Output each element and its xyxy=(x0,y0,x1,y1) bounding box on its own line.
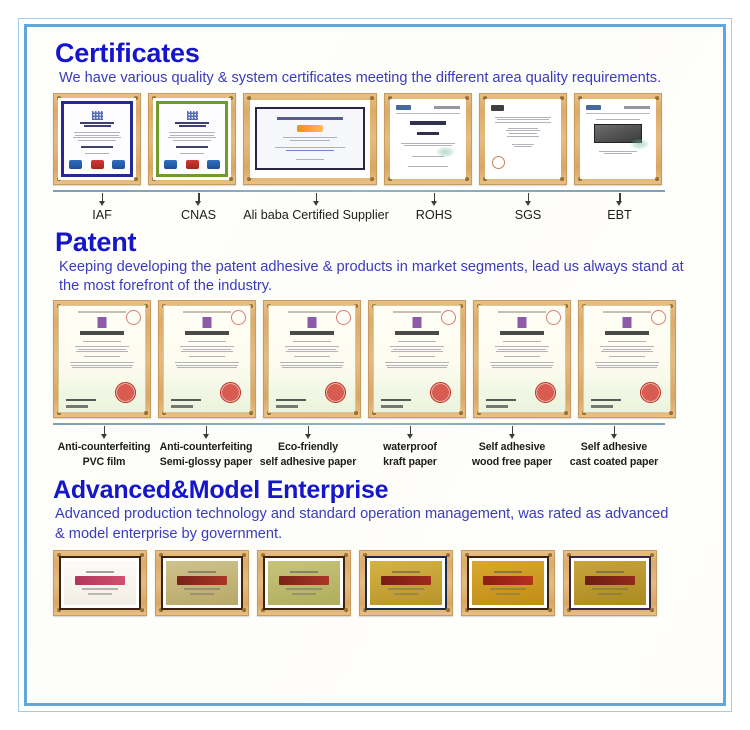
certificate-thumb-rohs[interactable] xyxy=(384,93,472,185)
patent-red-seal-icon xyxy=(640,382,661,403)
certificate-thumb-sgs[interactable] xyxy=(479,93,567,185)
advanced-model-enterprise-heading: Advanced&Model Enterprise xyxy=(53,477,709,503)
award-plaque xyxy=(166,561,238,605)
patent-red-seal-icon xyxy=(535,382,556,403)
patent-caption-line2: wood free paper xyxy=(472,455,552,469)
patent-caption: Eco-friendly self adhesive paper xyxy=(260,440,356,469)
patent-stamp-icon xyxy=(126,310,141,325)
alibaba-logo-icon xyxy=(297,125,323,132)
patent-caption: Self adhesive cast coated paper xyxy=(570,440,658,469)
section-certificates: Certificates We have various quality & s… xyxy=(41,39,709,224)
patent-caption-line1: waterproof xyxy=(383,441,437,453)
patent-thumb[interactable] xyxy=(53,300,151,418)
patent-heading: Patent xyxy=(55,228,709,256)
award-plaque xyxy=(472,561,544,605)
advanced-model-enterprise-description: Advanced production technology and stand… xyxy=(55,505,670,544)
patent-red-seal-icon xyxy=(220,382,241,403)
certificates-captions: IAF CNAS Ali baba Certified Supplier xyxy=(53,192,665,224)
patent-caption-line1: Eco-friendly xyxy=(278,441,338,453)
alibaba-certificate-document xyxy=(255,107,365,169)
patent-office-logo-icon xyxy=(515,317,529,328)
sgs-seal-icon xyxy=(492,156,505,169)
patent-red-seal-icon xyxy=(430,382,451,403)
content-area: Certificates We have various quality & s… xyxy=(27,27,723,703)
award-plaque-thumb[interactable] xyxy=(359,550,453,616)
patent-stamp-icon xyxy=(231,310,246,325)
patent-caption-line2: self adhesive paper xyxy=(260,455,356,469)
patent-red-seal-icon xyxy=(115,382,136,403)
patent-thumb[interactable] xyxy=(263,300,361,418)
patent-description: Keeping developing the patent adhesive &… xyxy=(59,258,684,297)
awards-image-row xyxy=(53,550,709,616)
award-plaque-text xyxy=(177,576,227,585)
certificate-caption: Ali baba Certified Supplier xyxy=(243,207,389,224)
sgs-logo-icon xyxy=(491,105,504,111)
award-plaque-text xyxy=(585,576,635,585)
certificates-heading: Certificates xyxy=(55,39,709,67)
cnas-certificate-document xyxy=(156,101,228,177)
patent-stamp-icon xyxy=(441,310,456,325)
patent-caption-line2: cast coated paper xyxy=(570,455,658,469)
patent-caption: Anti-counterfeiting PVC film xyxy=(58,440,151,469)
patent-caption-line1: Anti-counterfeiting xyxy=(58,441,151,453)
patent-office-logo-icon xyxy=(95,317,109,328)
patent-image-row xyxy=(53,300,709,418)
test-report-title xyxy=(410,121,446,125)
award-plaque-thumb[interactable] xyxy=(563,550,657,616)
section-advanced-model-enterprise: Advanced&Model Enterprise Advanced produ… xyxy=(41,477,709,616)
patent-captions: Anti-counterfeiting PVC film Anti-counte… xyxy=(53,425,665,469)
lab-logo-icon xyxy=(396,105,411,110)
cnas-logo-icon xyxy=(187,111,198,120)
patent-office-logo-icon xyxy=(305,317,319,328)
certificates-description: We have various quality & system certifi… xyxy=(59,69,684,88)
ebt-logo-icon xyxy=(586,105,601,110)
patent-caption-line1: Self adhesive xyxy=(479,441,545,453)
award-plaque-thumb[interactable] xyxy=(53,550,147,616)
iaf-certificate-document xyxy=(61,101,133,177)
patent-office-logo-icon xyxy=(200,317,214,328)
patent-thumb[interactable] xyxy=(473,300,571,418)
approval-stamp-icon xyxy=(631,139,648,149)
award-plaque-thumb[interactable] xyxy=(257,550,351,616)
award-plaque-thumb[interactable] xyxy=(461,550,555,616)
certificate-caption: IAF xyxy=(92,207,112,224)
award-plaque xyxy=(64,561,136,605)
iaf-logo-icon xyxy=(92,111,103,120)
accreditation-badge-icon xyxy=(69,160,82,169)
certificates-label-bar: IAF CNAS Ali baba Certified Supplier xyxy=(53,190,709,224)
patent-caption: Anti-counterfeiting Semi-glossy paper xyxy=(160,440,253,469)
page-root: Certificates We have various quality & s… xyxy=(0,0,750,730)
approval-stamp-icon xyxy=(437,147,454,157)
patent-red-seal-icon xyxy=(325,382,346,403)
certificate-thumb-cnas[interactable] xyxy=(148,93,236,185)
award-plaque-text xyxy=(381,576,431,585)
award-plaque-text xyxy=(483,576,533,585)
patent-office-logo-icon xyxy=(620,317,634,328)
award-plaque xyxy=(574,561,646,605)
section-patent: Patent Keeping developing the patent adh… xyxy=(41,228,709,469)
certificate-caption: EBT xyxy=(607,207,632,224)
patent-office-logo-icon xyxy=(410,317,424,328)
certificate-caption: SGS xyxy=(515,207,542,224)
certificate-thumb-ebt[interactable] xyxy=(574,93,662,185)
patent-caption-line2: Semi-glossy paper xyxy=(160,455,253,469)
patent-thumb[interactable] xyxy=(578,300,676,418)
award-plaque-text xyxy=(75,576,125,585)
accreditation-badge-icon xyxy=(186,160,199,169)
award-plaque-text xyxy=(279,576,329,585)
patent-caption-line1: Self adhesive xyxy=(581,441,647,453)
award-plaque xyxy=(370,561,442,605)
patent-caption-line2: PVC film xyxy=(58,455,151,469)
patent-stamp-icon xyxy=(546,310,561,325)
decorative-inner-border: Certificates We have various quality & s… xyxy=(24,24,726,706)
accreditation-badge-icon xyxy=(91,160,104,169)
certificate-caption: ROHS xyxy=(416,207,452,224)
accreditation-badge-icon xyxy=(164,160,177,169)
patent-caption: Self adhesive wood free paper xyxy=(472,440,552,469)
patent-caption-line1: Anti-counterfeiting xyxy=(160,441,253,453)
certificates-image-row xyxy=(53,93,709,185)
patent-caption-line2: kraft paper xyxy=(383,455,437,469)
certificate-thumb-iaf[interactable] xyxy=(53,93,141,185)
award-plaque xyxy=(268,561,340,605)
award-plaque-thumb[interactable] xyxy=(155,550,249,616)
patent-stamp-icon xyxy=(336,310,351,325)
patent-thumb[interactable] xyxy=(158,300,256,418)
patent-thumb[interactable] xyxy=(368,300,466,418)
accreditation-badge-icon xyxy=(207,160,220,169)
certificate-thumb-alibaba[interactable] xyxy=(243,93,377,185)
certificate-caption: CNAS xyxy=(181,207,216,224)
accreditation-badge-icon xyxy=(112,160,125,169)
patent-caption: waterproof kraft paper xyxy=(383,440,437,469)
patent-label-bar: Anti-counterfeiting PVC film Anti-counte… xyxy=(53,423,709,469)
patent-stamp-icon xyxy=(651,310,666,325)
